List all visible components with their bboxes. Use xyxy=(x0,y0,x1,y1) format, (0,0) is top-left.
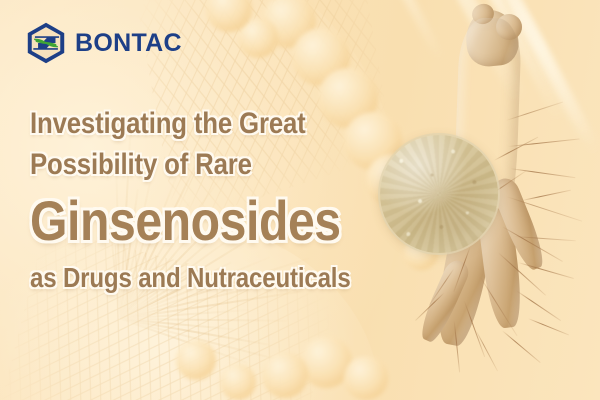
headline-line-2: Possibility of Rare xyxy=(30,144,348,186)
background-blob xyxy=(344,356,388,400)
headline-line-4: as Drugs and Nutraceuticals xyxy=(30,256,348,300)
root-fiber xyxy=(516,290,562,321)
root-fiber xyxy=(502,330,541,363)
headline-title-ginsenosides: Ginsenosides xyxy=(30,186,348,256)
background-blob xyxy=(220,364,256,400)
root-fiber xyxy=(476,330,498,371)
article-hero-banner: BONTAC Investigating the Great Possibili… xyxy=(0,0,600,400)
headline-block: Investigating the Great Possibility of R… xyxy=(30,104,400,300)
bontac-logo[interactable]: BONTAC xyxy=(26,22,182,64)
root-fiber xyxy=(528,318,569,336)
bontac-wordmark: BONTAC xyxy=(75,31,182,56)
background-blob xyxy=(176,340,216,380)
bontac-hexagon-leaf-logo-icon xyxy=(26,22,66,64)
headline-line-1: Investigating the Great xyxy=(30,104,348,144)
background-blob xyxy=(262,352,308,398)
root-fiber xyxy=(522,190,571,202)
